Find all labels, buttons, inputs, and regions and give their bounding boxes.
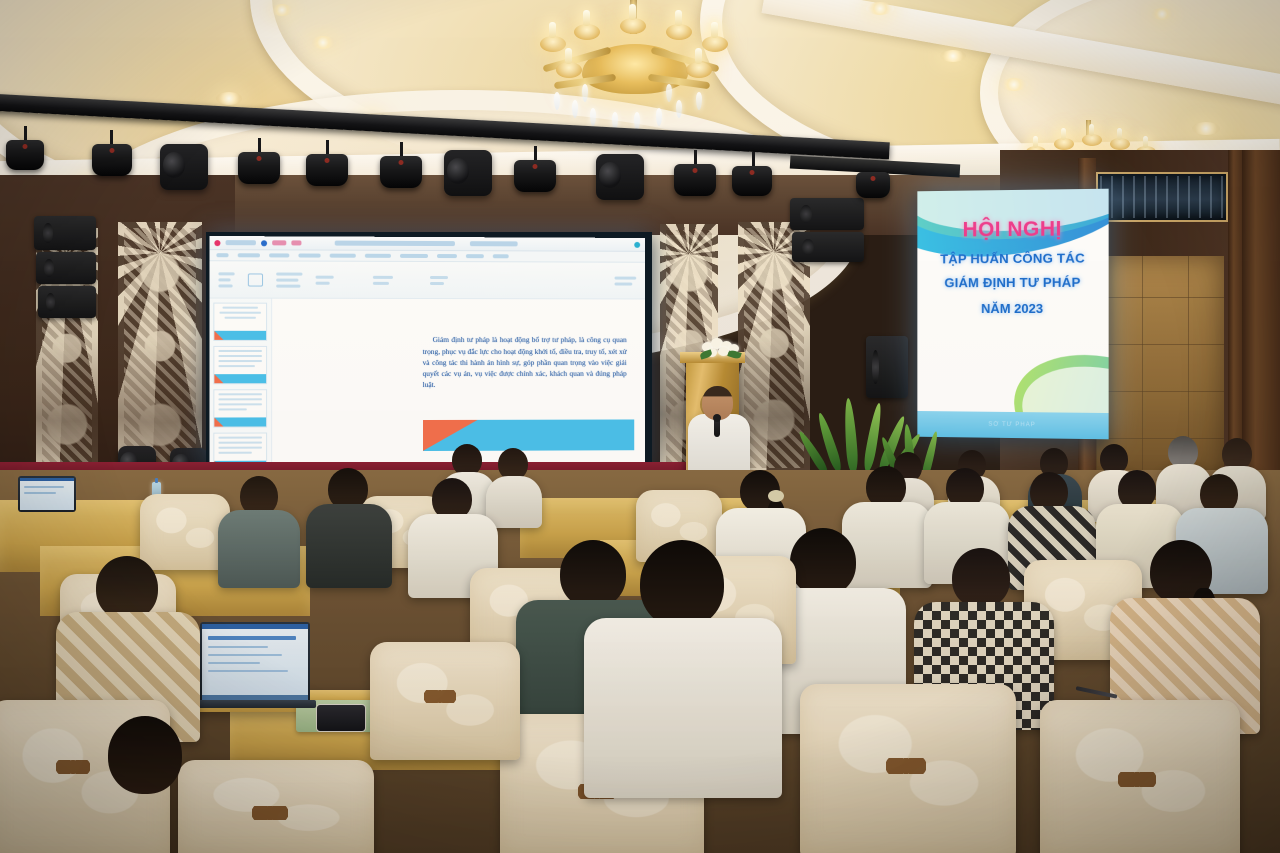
- banner-title: HỘI NGHỊ: [963, 217, 1062, 242]
- chandelier-cup: [574, 24, 600, 40]
- ceiling-downlight: [940, 50, 966, 62]
- chandelier-candle: [1143, 136, 1148, 148]
- ceiling-downlight: [1150, 8, 1174, 20]
- tab-transitions[interactable]: [330, 254, 356, 258]
- conference-banner-screen: HỘI NGHỊ TẬP HUẤN CÔNG TÁC GIÁM ĐỊNH TƯ …: [917, 189, 1108, 440]
- chandelier-crystal: [590, 108, 596, 126]
- ceiling-downlight: [1192, 122, 1220, 135]
- moving-head-light: [596, 154, 644, 200]
- tab-slideshow[interactable]: [400, 254, 428, 258]
- chandelier-crystal: [572, 100, 578, 118]
- ribbon-group-paragraph[interactable]: [316, 275, 334, 284]
- chandelier-crystal: [582, 84, 588, 102]
- par-can-light: [514, 160, 556, 192]
- app-logo-icon: [214, 240, 220, 246]
- par-can-light: [732, 166, 772, 196]
- ribbon-group-editing[interactable]: [430, 276, 448, 285]
- powerpoint-workspace: Giám định tư pháp là hoạt động bổ trợ tư…: [209, 299, 645, 472]
- smartphone[interactable]: [316, 704, 366, 732]
- ribbon-group-clipboard[interactable]: [218, 272, 234, 287]
- laptop[interactable]: [18, 476, 76, 512]
- microphone: [714, 418, 720, 437]
- ceiling-downlight: [270, 4, 294, 16]
- chandelier-candle: [583, 10, 590, 26]
- chandelier-cup: [666, 24, 692, 40]
- slide-body-text: Giám định tư pháp là hoạt động bổ trợ tư…: [423, 334, 627, 390]
- laptop-screen: [202, 624, 308, 702]
- tab-view[interactable]: [466, 254, 484, 258]
- stage-monitor-speaker: [866, 336, 908, 398]
- ceiling-downlight: [866, 2, 894, 15]
- line-array-speaker: [38, 286, 96, 318]
- chair-clasp-ornament: [252, 806, 288, 820]
- tab-home[interactable]: [238, 253, 260, 257]
- par-can-light: [92, 144, 132, 176]
- ceiling-downlight: [310, 36, 336, 49]
- chair-clasp-ornament: [424, 690, 456, 703]
- chandelier-candle: [565, 48, 572, 64]
- slide-thumbnail[interactable]: [213, 389, 267, 427]
- par-can-light: [306, 154, 348, 186]
- line-array-speaker: [36, 252, 96, 284]
- account-avatar[interactable]: [634, 241, 640, 247]
- chandelier-crystal: [554, 92, 560, 110]
- ceiling-downlight: [216, 92, 242, 105]
- save-icon[interactable]: [261, 240, 267, 246]
- ribbon-group-font[interactable]: [276, 272, 302, 287]
- par-can-light: [380, 156, 422, 188]
- tab-file[interactable]: [216, 253, 228, 257]
- par-can-light: [238, 152, 280, 184]
- chair-clasp-ornament: [1118, 772, 1156, 787]
- chandelier-cup: [686, 62, 712, 78]
- tab-insert[interactable]: [269, 253, 289, 257]
- banner-footer-text: SỞ TƯ PHÁP: [988, 422, 1035, 429]
- moving-head-light: [444, 150, 492, 196]
- tab-design[interactable]: [298, 253, 320, 257]
- laptop[interactable]: [200, 622, 310, 704]
- chandelier-crystal: [676, 100, 682, 118]
- tab-animations[interactable]: [365, 254, 391, 258]
- chair-clasp-ornament: [886, 758, 926, 774]
- chair-clasp-ornament: [56, 760, 90, 774]
- chandelier-candle: [695, 48, 702, 64]
- line-array-speaker: [792, 232, 864, 262]
- line-array-speaker: [34, 216, 96, 250]
- chandelier-crystal: [666, 84, 672, 102]
- chandelier-crystal: [656, 108, 662, 126]
- slide-thumbnail-panel[interactable]: [209, 299, 272, 472]
- ribbon-group-drawing[interactable]: [373, 275, 393, 284]
- laptop-screen: [20, 478, 74, 510]
- chandelier: [520, 0, 750, 140]
- ribbon-toolbar[interactable]: [209, 261, 645, 299]
- chandelier-crystal: [634, 112, 640, 130]
- ceiling-downlight: [1000, 78, 1028, 91]
- conference-hall-photo: Giám định tư pháp là hoạt động bổ trợ tư…: [0, 0, 1280, 853]
- chandelier-cup: [540, 36, 566, 52]
- chandelier-crystal: [696, 92, 702, 110]
- par-can-light: [6, 140, 44, 170]
- chandelier-candle: [675, 10, 682, 26]
- chandelier-candle: [549, 22, 556, 38]
- line-array-speaker: [790, 198, 864, 230]
- banner-subtitle-line1: TẬP HUẤN CÔNG TÁC: [940, 250, 1085, 266]
- ribbon-group-slides[interactable]: [248, 273, 263, 286]
- tab-review[interactable]: [437, 254, 457, 258]
- chandelier-cup: [556, 62, 582, 78]
- slide-thumbnail[interactable]: [213, 346, 267, 384]
- undo-icon[interactable]: [272, 240, 286, 245]
- chandelier-cup: [702, 36, 728, 52]
- laptop-base: [196, 700, 316, 708]
- powerpoint-window[interactable]: Giám định tư pháp là hoạt động bổ trợ tư…: [209, 236, 645, 472]
- chandelier-candle: [629, 4, 636, 20]
- ribbon-group-share[interactable]: [615, 276, 637, 285]
- tab-help[interactable]: [493, 254, 509, 258]
- par-can-light: [856, 172, 890, 198]
- autosave-label: [470, 241, 518, 246]
- projection-screen: Giám định tư pháp là hoạt động bổ trợ tư…: [206, 232, 652, 476]
- chandelier-cup: [620, 18, 646, 34]
- redo-icon[interactable]: [291, 240, 301, 245]
- document-title: [335, 241, 455, 247]
- slide-decorative-graphic: [423, 419, 634, 451]
- banner-year: NĂM 2023: [981, 301, 1043, 316]
- chair: [140, 494, 230, 570]
- chandelier-candle: [1061, 128, 1066, 140]
- chandelier-candle: [711, 22, 718, 38]
- quick-access-item[interactable]: [226, 240, 256, 245]
- par-can-light: [674, 164, 716, 196]
- chandelier-candle: [1033, 136, 1038, 148]
- moving-head-light: [160, 144, 208, 190]
- decorative-lace-panel: [118, 222, 202, 480]
- chandelier-candle: [1089, 124, 1094, 136]
- slide-thumbnail[interactable]: [213, 303, 267, 341]
- banner-subtitle-line2: GIÁM ĐỊNH TƯ PHÁP: [944, 275, 1080, 290]
- glass-transom: [1096, 172, 1228, 222]
- chandelier-candle: [1117, 128, 1122, 140]
- flower-arrangement: [700, 338, 742, 358]
